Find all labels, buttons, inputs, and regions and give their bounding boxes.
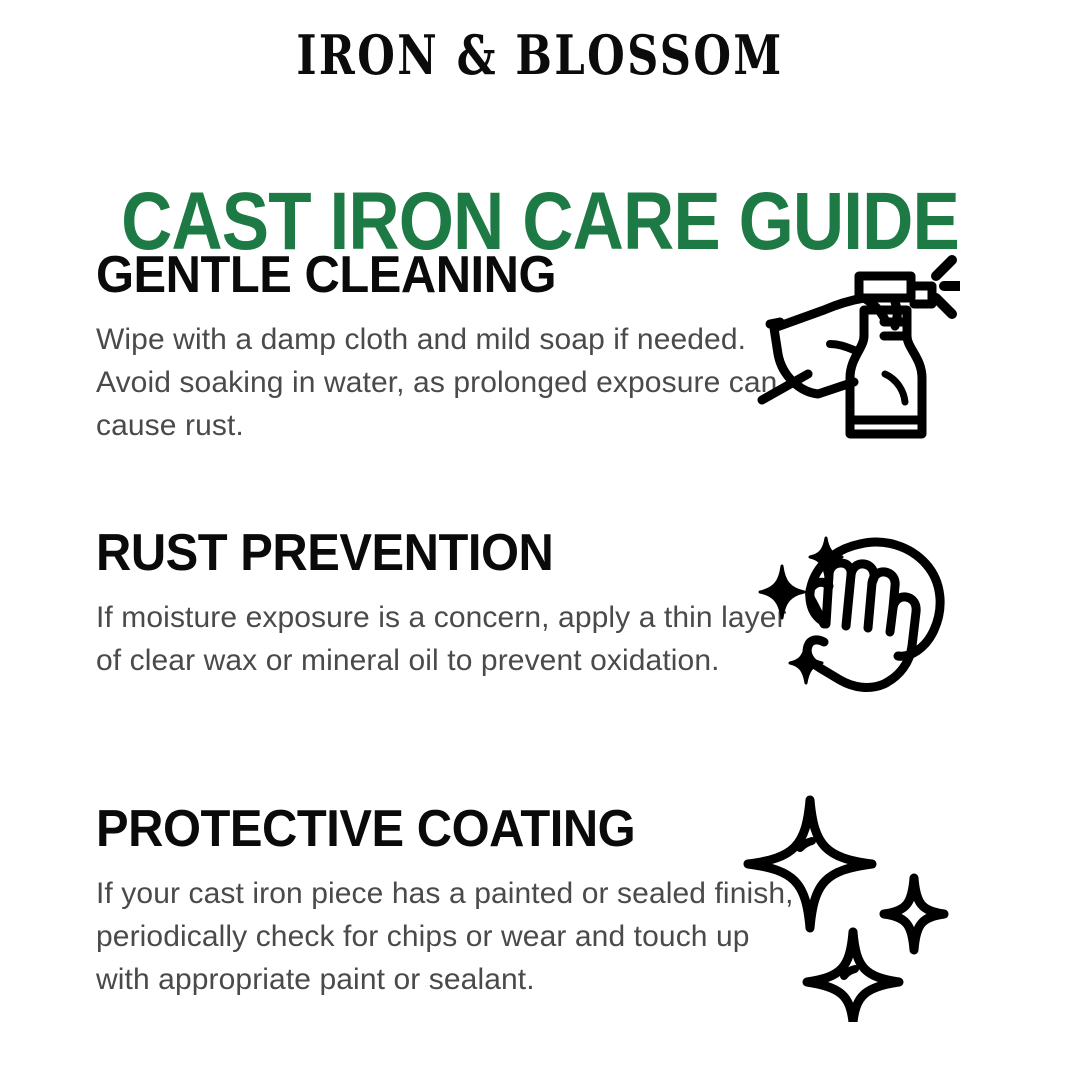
brand-logo: IRON & BLOSSOM <box>108 28 972 82</box>
care-guide-poster: IRON & BLOSSOM CAST IRON CARE GUIDE GENT… <box>0 0 1080 1080</box>
spray-bottle-icon <box>746 252 960 448</box>
section-text-block: RUST PREVENTION If moisture exposure is … <box>96 526 806 682</box>
section-body: If moisture exposure is a concern, apply… <box>96 596 806 682</box>
section-text-block: GENTLE CLEANING Wipe with a damp cloth a… <box>96 248 806 447</box>
section-heading: GENTLE CLEANING <box>96 248 763 302</box>
section-text-block: PROTECTIVE COATING If your cast iron pie… <box>96 802 806 1001</box>
section-heading: PROTECTIVE COATING <box>96 802 763 856</box>
section-heading: RUST PREVENTION <box>96 526 763 580</box>
section-body: Wipe with a damp cloth and mild soap if … <box>96 318 806 447</box>
hand-wiping-cloth-icon <box>748 534 954 714</box>
section-body: If your cast iron piece has a painted or… <box>96 872 806 1001</box>
sparkles-icon <box>734 794 958 1022</box>
